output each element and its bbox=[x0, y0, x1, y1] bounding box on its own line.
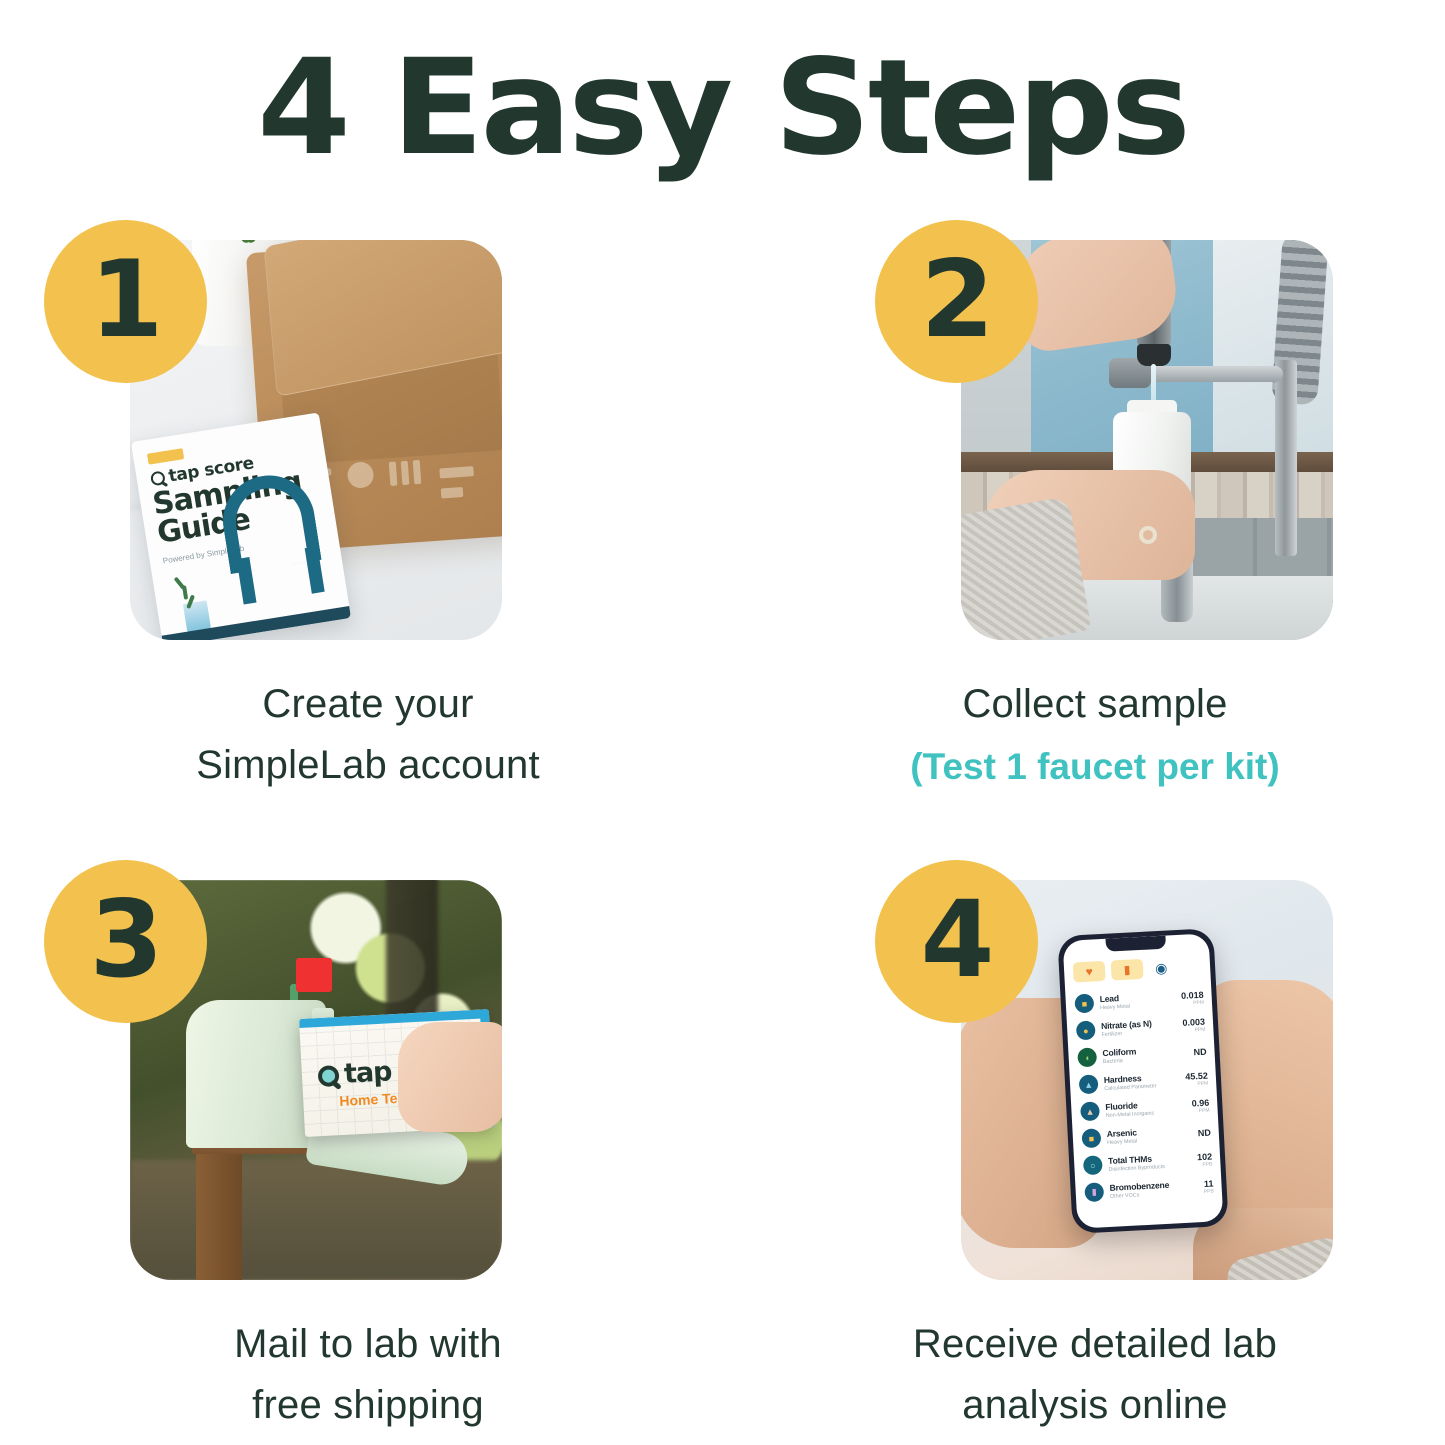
fluoride-icon: ▲ bbox=[1080, 1101, 1100, 1121]
step-3-caption-line2: free shipping bbox=[18, 1375, 718, 1436]
analyte-unit: PPM bbox=[1181, 999, 1204, 1006]
step-3-caption: Mail to lab with free shipping bbox=[18, 1314, 718, 1436]
step-card-3: tap score Home Testing 3 Mail to lab wit… bbox=[18, 862, 718, 1445]
phone-screen: ♥ ▮ ◉ ■ Lead Heavy Metal bbox=[1063, 933, 1224, 1228]
analyte-value: 102 bbox=[1197, 1151, 1213, 1162]
nitrate-icon: ● bbox=[1076, 1020, 1096, 1040]
page-title: 4 Easy Steps bbox=[0, 42, 1445, 174]
results-list: ■ Lead Heavy Metal 0.018 PPM bbox=[1065, 983, 1222, 1206]
coliform-icon: ◖ bbox=[1077, 1047, 1097, 1067]
analyte-value: 45.52 bbox=[1185, 1070, 1208, 1081]
phone-notch bbox=[1106, 936, 1167, 952]
step-badge-2: 2 bbox=[875, 220, 1038, 383]
faucet-body bbox=[1275, 360, 1297, 556]
plant-illustration bbox=[163, 574, 203, 619]
step-1-caption-line2: SimpleLab account bbox=[18, 735, 718, 796]
step-2-subtitle: (Test 1 faucet per kit) bbox=[745, 739, 1445, 795]
plant-leaves bbox=[200, 240, 296, 242]
droplet-magnifier-icon bbox=[150, 470, 166, 486]
step-badge-1: 1 bbox=[44, 220, 207, 383]
read-first-tag bbox=[147, 448, 184, 464]
analyte-value: 11 bbox=[1203, 1178, 1214, 1189]
smartphone: ♥ ▮ ◉ ■ Lead Heavy Metal bbox=[1057, 928, 1228, 1234]
step-4-caption-line1: Receive detailed lab bbox=[913, 1322, 1277, 1366]
thms-icon: ○ bbox=[1083, 1155, 1103, 1175]
nozzle-tip bbox=[1137, 344, 1171, 366]
eye-icon[interactable]: ◉ bbox=[1155, 959, 1168, 977]
analyte-value: ND bbox=[1193, 1046, 1207, 1057]
step-1-caption-line1: Create your bbox=[262, 682, 473, 726]
analyte-unit: PPB bbox=[1197, 1161, 1212, 1168]
hand-holding-box bbox=[398, 1022, 502, 1132]
analyte-value: ND bbox=[1198, 1127, 1212, 1138]
cup-icon[interactable]: ▮ bbox=[1111, 959, 1144, 981]
heart-pulse-icon[interactable]: ♥ bbox=[1073, 961, 1106, 983]
analyte-unit: PPM bbox=[1192, 1107, 1210, 1114]
faucet-illustration bbox=[207, 467, 340, 604]
lead-icon: ■ bbox=[1074, 993, 1094, 1013]
step-1-caption: Create your SimpleLab account bbox=[18, 674, 718, 796]
hardness-icon: ▲ bbox=[1079, 1074, 1099, 1094]
arsenic-icon: ■ bbox=[1081, 1128, 1101, 1148]
analyte-value: 0.003 bbox=[1182, 1016, 1205, 1027]
step-2-caption: Collect sample (Test 1 faucet per kit) bbox=[745, 674, 1445, 795]
step-2-caption-line1: Collect sample bbox=[962, 682, 1227, 726]
step-4-caption: Receive detailed lab analysis online bbox=[745, 1314, 1445, 1436]
step-card-4: ♥ ▮ ◉ ■ Lead Heavy Metal bbox=[745, 862, 1445, 1445]
step-3-caption-line1: Mail to lab with bbox=[234, 1322, 502, 1366]
steps-grid: tap score Sampling Guide Powered by Simp… bbox=[0, 212, 1445, 1445]
analyte-value: 0.018 bbox=[1181, 989, 1204, 1000]
analyte-unit: PPM bbox=[1183, 1026, 1206, 1033]
analyte-unit: PPB bbox=[1204, 1188, 1214, 1195]
results-toolbar: ♥ ▮ ◉ bbox=[1063, 950, 1210, 988]
bromobenzene-icon: ▮ bbox=[1084, 1182, 1104, 1202]
step-badge-3: 3 bbox=[44, 860, 207, 1023]
analyte-unit: PPM bbox=[1186, 1080, 1209, 1087]
infographic-page: 4 Easy Steps bbox=[0, 0, 1445, 1445]
droplet-magnifier-icon bbox=[318, 1065, 340, 1087]
step-badge-4: 4 bbox=[875, 860, 1038, 1023]
mailbox-flag bbox=[296, 958, 332, 992]
analyte-value: 0.96 bbox=[1191, 1097, 1209, 1108]
step-4-caption-line2: analysis online bbox=[745, 1375, 1445, 1436]
step-card-1: tap score Sampling Guide Powered by Simp… bbox=[18, 212, 718, 822]
sampling-guide-booklet: tap score Sampling Guide Powered by Simp… bbox=[131, 412, 351, 640]
finger-ring bbox=[1139, 526, 1157, 544]
step-card-2: 2 Collect sample (Test 1 faucet per kit) bbox=[745, 212, 1445, 822]
faucet-arm bbox=[1137, 366, 1283, 382]
